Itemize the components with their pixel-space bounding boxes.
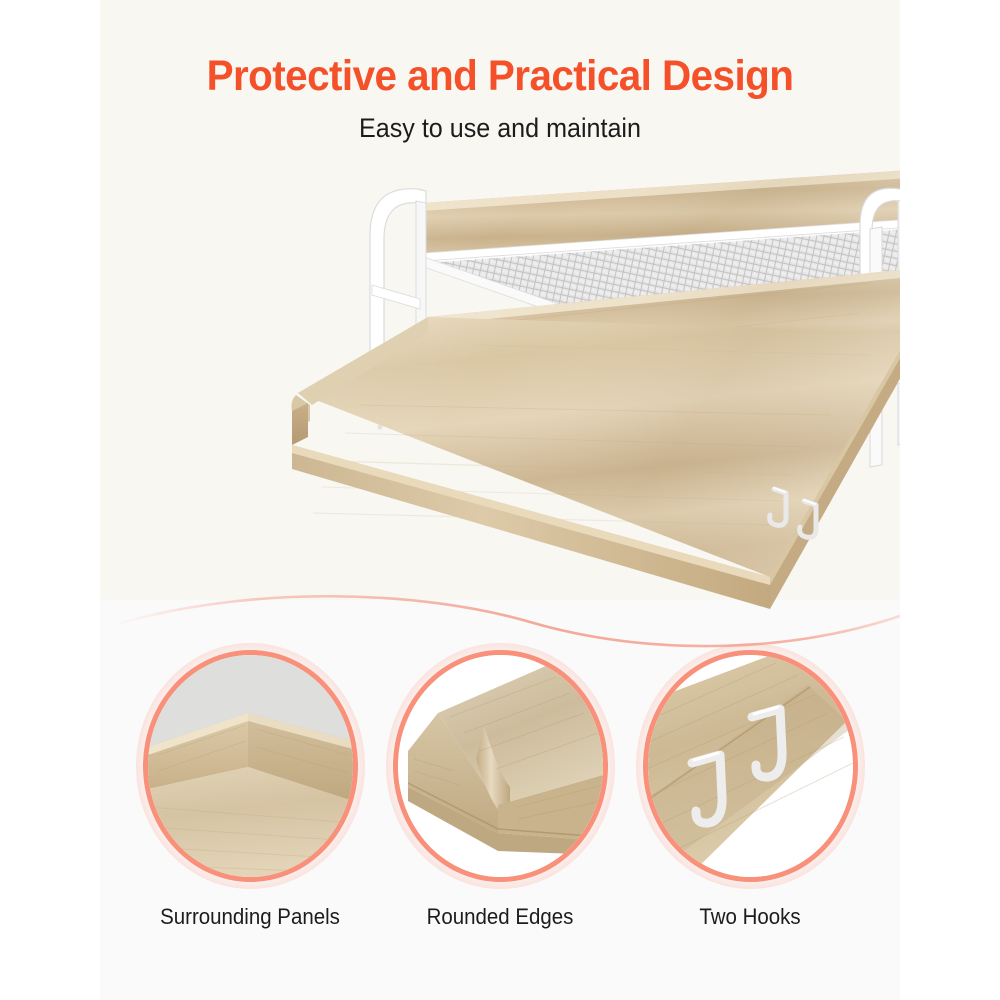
page-subheadline: Easy to use and maintain xyxy=(128,113,872,144)
feature-circle xyxy=(143,650,358,882)
wood-tray-base xyxy=(292,317,901,609)
feature-item: Two Hooks xyxy=(630,650,870,930)
feature-label: Two Hooks xyxy=(638,904,861,930)
two-hooks-photo-icon xyxy=(643,650,858,882)
feature-circle xyxy=(393,650,608,882)
hero-product-image xyxy=(170,165,900,625)
rounded-edges-photo-icon xyxy=(393,650,608,882)
content-panel: Protective and Practical Design Easy to … xyxy=(100,0,900,1000)
feature-circle xyxy=(643,650,858,882)
feature-list: Surrounding Panels xyxy=(100,650,900,950)
page-headline: Protective and Practical Design xyxy=(124,52,876,101)
feature-label: Surrounding Panels xyxy=(138,904,361,930)
feature-item: Rounded Edges xyxy=(380,650,620,930)
feature-label: Rounded Edges xyxy=(388,904,611,930)
surrounding-panels-photo-icon xyxy=(143,650,358,882)
marketing-image-page: Protective and Practical Design Easy to … xyxy=(0,0,1000,1000)
feature-item: Surrounding Panels xyxy=(130,650,370,930)
